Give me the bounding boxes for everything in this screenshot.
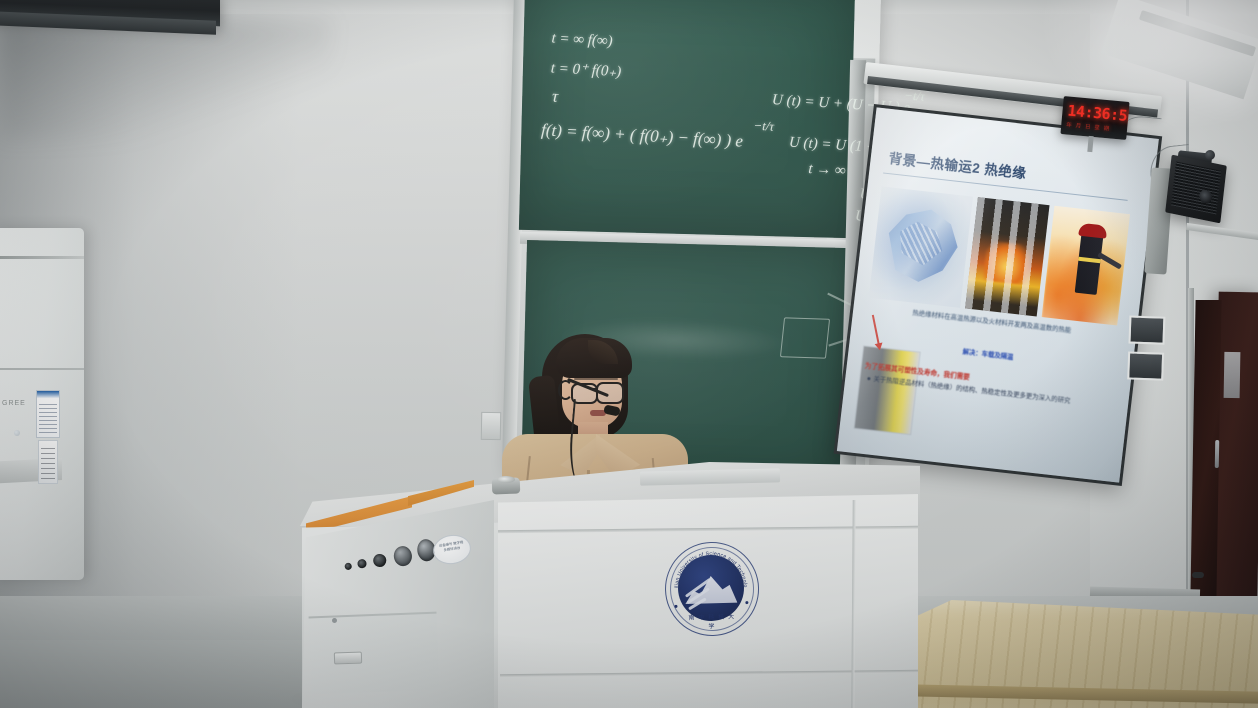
door-glass-panel (1224, 352, 1241, 398)
slide-surface: 背景—热输运2 热绝缘 热绝缘材料 (837, 107, 1159, 482)
speaker-swivel-knob (1205, 150, 1215, 160)
firefighter-illustration (1042, 206, 1130, 326)
chalk-line-1: t = 0⁺ f(0₊) (550, 58, 621, 81)
chalk-line-0: t = ∞ f(∞) (551, 30, 613, 50)
projector-shadow (0, 20, 330, 140)
furnace-tubes (965, 197, 1049, 316)
ac-indicator-dot (14, 430, 20, 436)
bullet-dot (867, 377, 870, 380)
engine-thermal-diagram (869, 186, 973, 308)
ac-energy-label (36, 390, 60, 438)
speaker-grille (1171, 162, 1221, 215)
slide-title: 背景—热输运2 热绝缘 (888, 147, 1028, 182)
chalk-line-3: f(t) = f(∞) + ( f(0₊) − f(∞) ) e (541, 120, 744, 151)
ac-spec-sticker (38, 440, 58, 484)
wall-panel-lower[interactable] (1127, 351, 1164, 380)
port-large-1[interactable] (393, 545, 413, 567)
wall-speaker (1165, 155, 1227, 224)
port-medium[interactable] (372, 553, 386, 567)
podium-drawer[interactable] (309, 612, 440, 695)
led-wall-clock: 14:36:55 年 月 日 星 期 (1060, 96, 1129, 140)
ac-brand-text: GREE (2, 400, 26, 407)
presenter-brows (574, 378, 618, 380)
emblem-dot-right (745, 601, 748, 604)
wall-panel-upper[interactable] (1128, 315, 1165, 344)
furnace-flame-photo (965, 197, 1049, 316)
emblem-chinese-name: 南 中 科 技 大 学 (686, 611, 738, 630)
podium-drawer-handle[interactable] (334, 652, 362, 665)
chalk-drawing-box (780, 317, 830, 358)
ac-panel-seam-mid (0, 368, 84, 370)
chalkboard-writing: t = ∞ f(∞)t = 0⁺ f(0₊)τf(t) = f(∞) + ( f… (519, 0, 865, 246)
floor-left (0, 640, 330, 708)
headset-ear-hook (558, 380, 573, 400)
slide-image-row (869, 186, 1130, 325)
ac-label-lines (39, 401, 57, 433)
door-handle[interactable] (1215, 440, 1219, 468)
podium-drawer-lock[interactable] (332, 618, 337, 623)
chalk-line-4: −t/τ (753, 118, 775, 135)
ac-panel-seam-top (0, 256, 84, 259)
door-stopper (1192, 572, 1204, 578)
projection-screen[interactable]: 背景—热输运2 热绝缘 热绝缘材料 (834, 104, 1163, 486)
university-emblem: Huilian University of Science and Techno… (664, 541, 758, 635)
chalk-line-10: t → ∞ (808, 161, 846, 180)
chalk-line-2: τ (552, 86, 559, 106)
podium-microphone-ring (497, 476, 515, 483)
lecture-hall-photo: t = ∞ f(∞)t = 0⁺ f(0₊)τf(t) = f(∞) + ( f… (0, 0, 1258, 708)
port-small-2[interactable] (357, 559, 367, 569)
port-small-1[interactable] (344, 562, 352, 570)
ac-spec-lines (41, 445, 55, 479)
podium-asset-label-text: 设备编号 教学楼 多媒体讲台 (438, 540, 465, 554)
thermal-gradient-inset (854, 345, 921, 435)
emblem-dot-left (674, 605, 677, 608)
wall-control-panels[interactable] (1127, 315, 1162, 398)
